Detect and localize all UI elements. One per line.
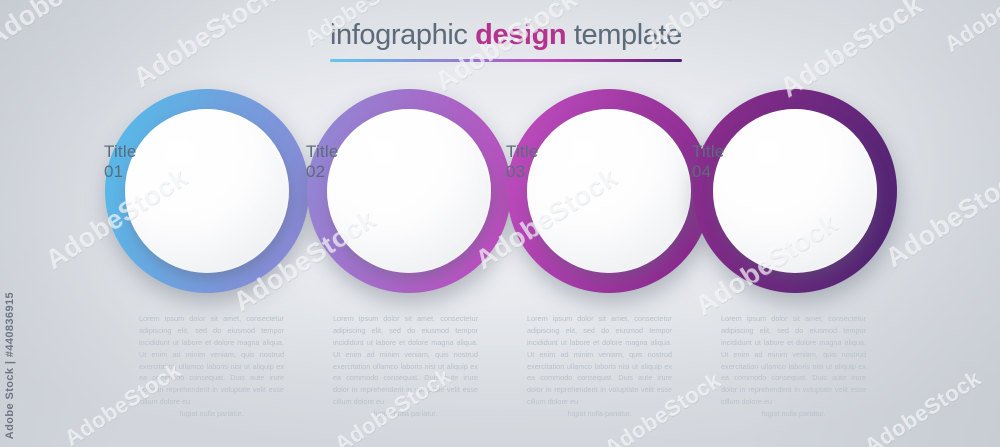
step-4-disc [713,109,877,273]
step-1-disc [125,109,289,273]
step-2-disc [327,109,491,273]
step-3-body-paragraph: Lorem ipsum dolor sit amet, consectetur … [527,314,672,406]
step-4-body-text: Lorem ipsum dolor sit amet, consectetur … [721,313,866,420]
step-2-body-text: Lorem ipsum dolor sit amet, consectetur … [333,313,478,420]
step-3-body-lastline: fugiat nulla pariatur. [527,408,672,420]
step-3-disc [527,109,691,273]
step-1-body-lastline: fugiat nulla pariatur. [139,408,284,420]
step-3-body-text: Lorem ipsum dolor sit amet, consectetur … [527,313,672,420]
step-2-body-paragraph: Lorem ipsum dolor sit amet, consectetur … [333,314,478,406]
step-1-body-paragraph: Lorem ipsum dolor sit amet, consectetur … [139,314,284,406]
watermark-asset-id: Adobe Stock | #440836915 [4,292,16,439]
step-4-body-lastline: fugiat nulla pariatur. [721,408,866,420]
step-1-body-text: Lorem ipsum dolor sit amet, consectetur … [139,313,284,420]
step-2-body-lastline: fugiat nulla pariatur. [333,408,478,420]
step-4-body-paragraph: Lorem ipsum dolor sit amet, consectetur … [721,314,866,406]
